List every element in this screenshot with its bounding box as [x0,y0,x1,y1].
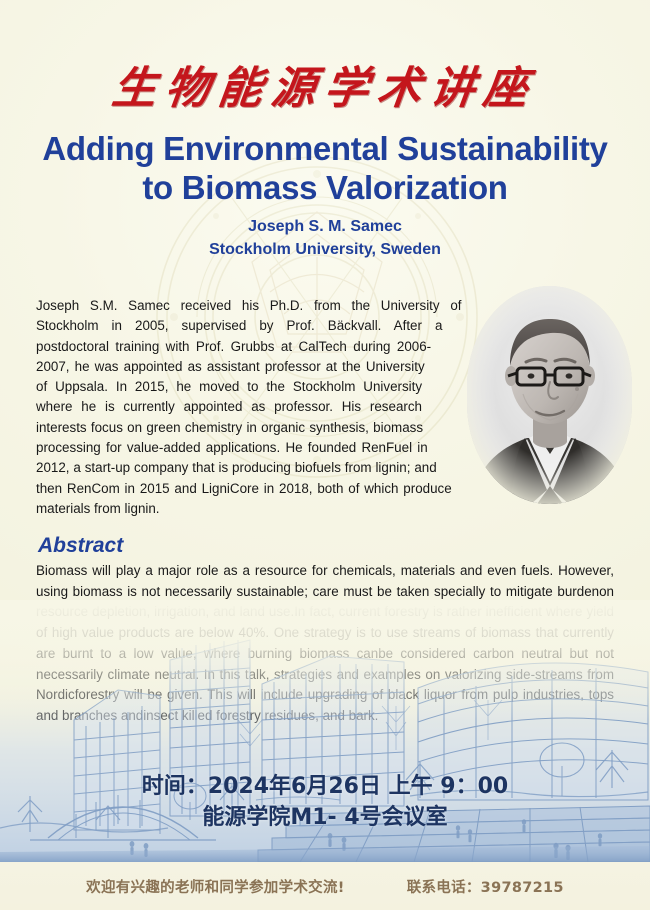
series-title-chinese: 生物能源学术讲座 [0,52,650,116]
speaker-name: Joseph S. M. Samec [0,215,650,238]
talk-title-line-1: Adding Environmental Sustainability [26,130,624,169]
biography-text: oseph S.M. Samec received his Ph.D. from… [36,298,462,516]
abstract-heading: Abstract [38,534,123,558]
speaker-photo [467,286,632,504]
page-title: Adding Environmental Sustainability to B… [26,130,624,208]
event-venue: 能源学院M1- 4号会议室 [0,802,650,833]
avatar [467,286,632,504]
footer-contact: 联系电话：39787215 [407,876,564,897]
event-datetime: 时间：2024年6月26日 上午 9：00 [0,771,650,802]
seminar-poster: 生物能源学术讲座 Adding Environmental Sustainabi… [0,0,650,910]
event-details: 时间：2024年6月26日 上午 9：00 能源学院M1- 4号会议室 [0,771,650,833]
speaker-affiliation: Stockholm University, Sweden [0,238,650,261]
talk-title-line-2: to Biomass Valorization [26,169,624,208]
footer-invitation: 欢迎有兴趣的老师和同学参加学术交流! [86,876,345,897]
abstract-body: Biomass will play a major role as a reso… [36,561,614,727]
speaker-block: Joseph S. M. Samec Stockholm University,… [0,215,650,261]
biography-dropcap: J [36,298,43,313]
poster-footer: 欢迎有兴趣的老师和同学参加学术交流! 联系电话：39787215 [0,862,650,910]
